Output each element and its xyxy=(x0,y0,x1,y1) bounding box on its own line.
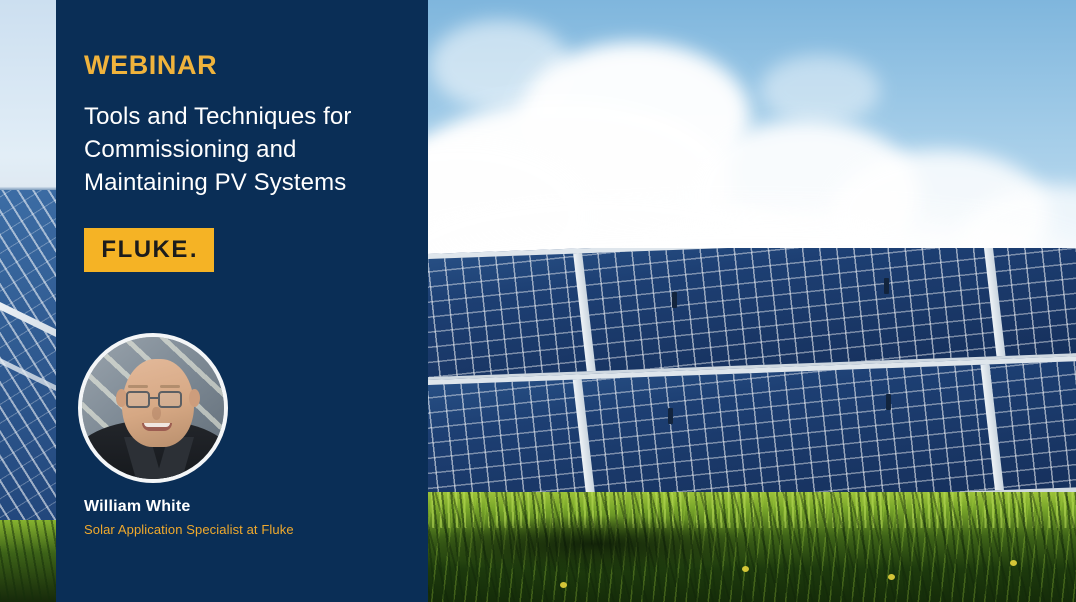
fluke-logo-dot: . xyxy=(190,236,197,264)
cloud xyxy=(760,55,880,125)
page-title: Tools and Techniques for Commissioning a… xyxy=(84,101,414,200)
content-panel: WEBINAR Tools and Techniques for Commiss… xyxy=(56,0,428,602)
fluke-logo-text: FLUKE xyxy=(101,238,189,262)
speaker-name: William White xyxy=(84,498,190,516)
fluke-logo: FLUKE . xyxy=(84,228,214,272)
speaker-role: Solar Application Specialist at Fluke xyxy=(84,522,294,537)
photo-sliver-left xyxy=(0,0,56,602)
webinar-title-slide: WEBINAR Tools and Techniques for Commiss… xyxy=(0,0,1076,602)
avatar xyxy=(78,333,228,483)
eyebrow-label: WEBINAR xyxy=(84,52,428,79)
